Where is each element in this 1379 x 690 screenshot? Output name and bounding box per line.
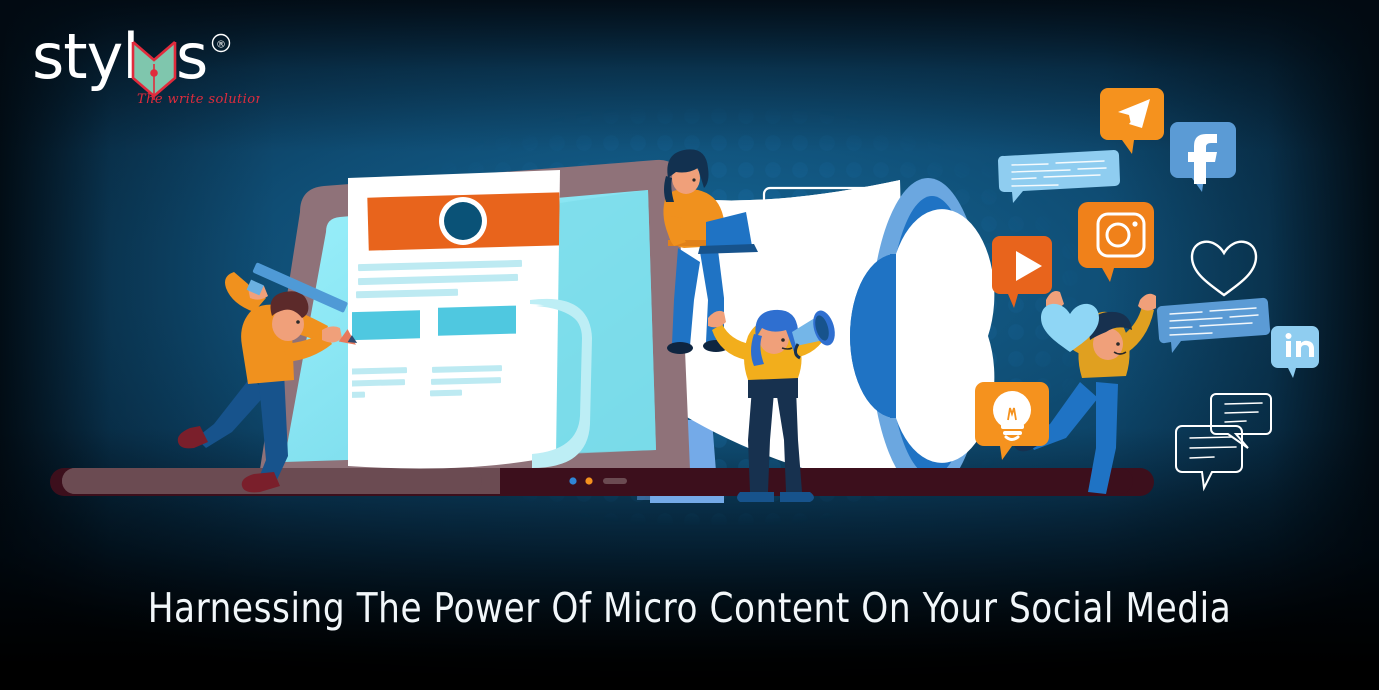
instagram-icon xyxy=(1078,202,1154,282)
document-page xyxy=(333,170,592,468)
brand-logo[interactable]: styl s ® The write solution xyxy=(30,18,260,110)
logo-tagline: The write solution xyxy=(137,92,260,107)
heart-outline-icon xyxy=(1192,242,1256,295)
laptop-indicator-dot-orange xyxy=(585,477,592,484)
registered-mark-icon: ® xyxy=(213,35,230,52)
laptop-indicator-dot-blue xyxy=(569,477,576,484)
facebook-icon xyxy=(1170,122,1236,192)
youtube-icon xyxy=(992,236,1052,308)
telegram-icon xyxy=(1100,88,1164,154)
logo-letters-after: s xyxy=(176,20,208,93)
logo-letters-before: styl xyxy=(32,20,139,93)
page-title: Harnessing The Power Of Micro Content On… xyxy=(48,586,1330,631)
svg-text:®: ® xyxy=(216,40,226,51)
chat-bubble-blue-mid xyxy=(1157,298,1270,353)
chat-bubble-light-top xyxy=(998,150,1120,203)
banner: styl s ® The write solution Harnessing xyxy=(0,0,1379,690)
chat-bubble-outline-large xyxy=(1176,426,1242,488)
linkedin-icon xyxy=(1271,326,1319,378)
